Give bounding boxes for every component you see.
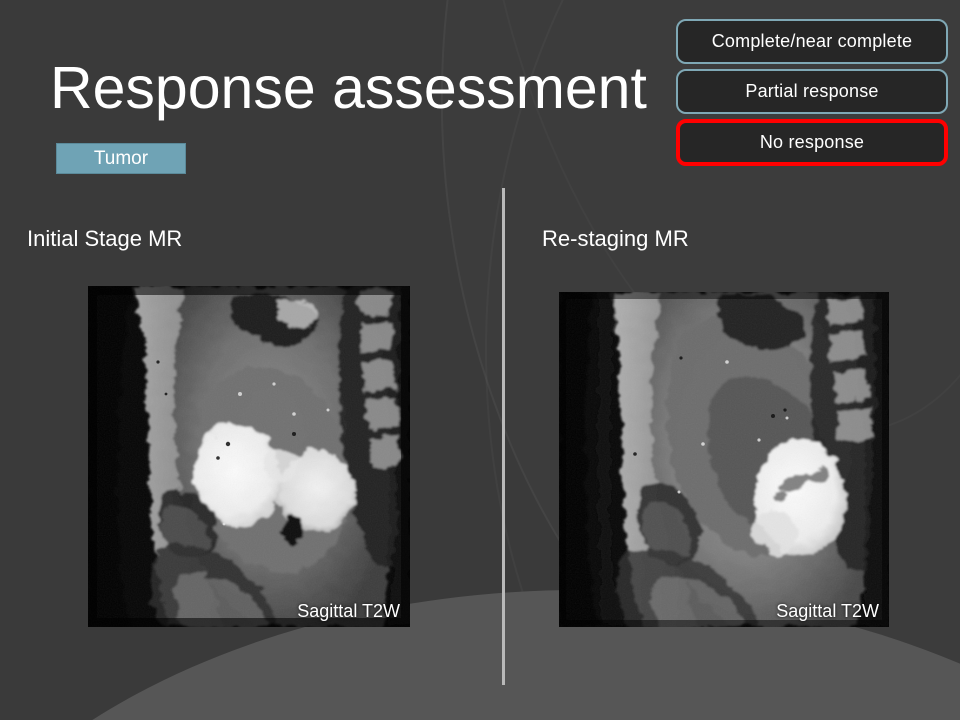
- response-options-group: Complete/near complete Partial response …: [676, 19, 948, 171]
- page-title: Response assessment: [50, 58, 647, 120]
- restaging-mr-image[interactable]: Sagittal T2W: [559, 292, 889, 627]
- response-option-label: No response: [760, 132, 864, 153]
- tumor-legend-badge: Tumor: [56, 143, 186, 174]
- right-sequence-tag: Sagittal T2W: [776, 601, 879, 622]
- slide-canvas: Response assessment Tumor Complete/near …: [0, 0, 960, 720]
- response-option-label: Complete/near complete: [712, 31, 913, 52]
- panel-divider: [502, 188, 505, 685]
- mr-image-render-left: [88, 286, 410, 627]
- response-option-partial-response[interactable]: Partial response: [676, 69, 948, 114]
- mr-image-render-right: [559, 292, 889, 627]
- left-sequence-tag: Sagittal T2W: [297, 601, 400, 622]
- response-option-complete-near-complete[interactable]: Complete/near complete: [676, 19, 948, 64]
- response-option-label: Partial response: [745, 81, 878, 102]
- right-panel-caption: Re-staging MR: [542, 226, 689, 252]
- left-panel-caption: Initial Stage MR: [27, 226, 182, 252]
- response-option-no-response[interactable]: No response: [676, 119, 948, 166]
- initial-stage-mr-image[interactable]: Sagittal T2W: [88, 286, 410, 627]
- tumor-legend-label: Tumor: [94, 148, 148, 170]
